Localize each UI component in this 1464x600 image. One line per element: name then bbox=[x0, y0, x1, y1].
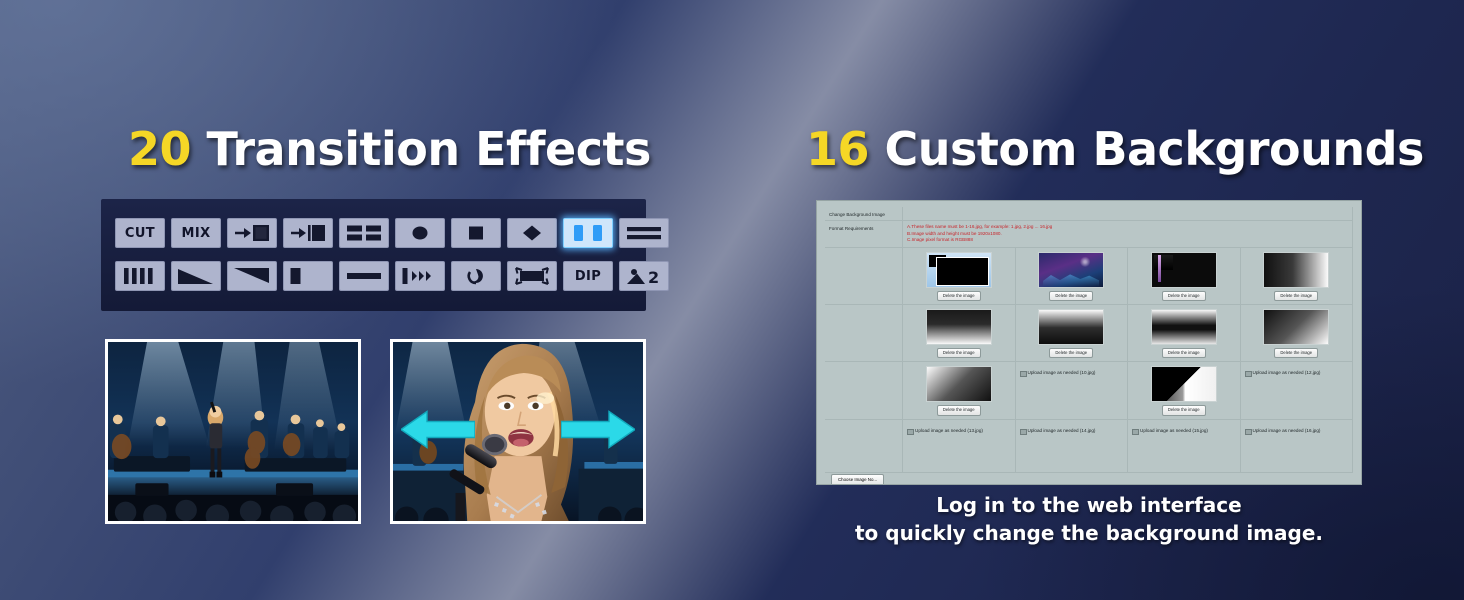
upload-image-note-15: Upload image as needed (15.jpg) bbox=[1130, 424, 1208, 435]
background-slot-row: Upload image as needed (13.jpg)Upload im… bbox=[825, 420, 1353, 473]
svg-text:2: 2 bbox=[648, 268, 660, 286]
transition-button-zoom-frame-corners[interactable] bbox=[507, 261, 557, 291]
background-slot-grid: Delete the imageDelete the imageDelete t… bbox=[825, 248, 1353, 473]
slot-row-spacer bbox=[825, 305, 903, 361]
transition-button-picture-in-picture-2[interactable]: 2 bbox=[619, 261, 669, 291]
transition-button-text-mix[interactable]: MIX bbox=[171, 218, 221, 248]
singer-closeup bbox=[390, 339, 646, 524]
diagonal-wipe-up-icon bbox=[177, 266, 215, 286]
background-slot-10[interactable]: Upload image as needed (10.jpg) bbox=[1016, 362, 1129, 418]
background-thumbnail-11 bbox=[1151, 366, 1217, 402]
format-requirements-list: A.These files name must be 1-16.jpg, for… bbox=[903, 221, 1353, 247]
slot-row-spacer bbox=[825, 420, 903, 472]
row-choose-image: Choose Image No... bbox=[825, 473, 1353, 485]
transition-button-text-cut[interactable]: CUT bbox=[115, 218, 165, 248]
four-blocks-grid-icon bbox=[345, 223, 383, 243]
transition-button-left-edge-block[interactable] bbox=[283, 261, 333, 291]
background-slot-row: Delete the imageDelete the imageDelete t… bbox=[825, 248, 1353, 305]
upload-image-note-10: Upload image as needed (10.jpg) bbox=[1018, 366, 1096, 377]
background-thumbnail-3 bbox=[1151, 252, 1217, 288]
left-edge-block-icon bbox=[289, 266, 327, 286]
transition-button-label: MIX bbox=[182, 226, 211, 241]
background-slot-16[interactable]: Upload image as needed (16.jpg) bbox=[1241, 420, 1354, 472]
background-slot-2[interactable]: Delete the image bbox=[1016, 248, 1129, 304]
transition-button-diamond-iris[interactable] bbox=[507, 218, 557, 248]
background-slot-14[interactable]: Upload image as needed (14.jpg) bbox=[1016, 420, 1129, 472]
upload-image-note-16: Upload image as needed (16.jpg) bbox=[1243, 424, 1321, 435]
square-iris-icon bbox=[457, 223, 495, 243]
transition-button-arrow-push-right-bar[interactable] bbox=[283, 218, 333, 248]
circle-iris-icon bbox=[401, 223, 439, 243]
arrow-push-right-bar-icon bbox=[289, 223, 327, 243]
background-thumbnail-8 bbox=[1263, 309, 1329, 345]
background-slot-row: Delete the imageDelete the imageDelete t… bbox=[825, 305, 1353, 362]
slot-row-spacer bbox=[825, 248, 903, 304]
upload-image-note-12: Upload image as needed (12.jpg) bbox=[1243, 366, 1321, 377]
spiral-swirl-icon bbox=[457, 266, 495, 286]
background-slot-12[interactable]: Upload image as needed (12.jpg) bbox=[1241, 362, 1354, 418]
transition-title-text: Transition Effects bbox=[191, 122, 651, 176]
slide-chevrons-icon bbox=[401, 266, 439, 286]
web-interface-screenshot: Change Background Image Format Requireme… bbox=[816, 200, 1362, 485]
delete-image-button[interactable]: Delete the image bbox=[937, 348, 981, 358]
background-count: 16 bbox=[806, 122, 869, 176]
transition-row-2: DIP2 bbox=[115, 261, 669, 291]
transition-button-square-iris[interactable] bbox=[451, 218, 501, 248]
background-slot-13[interactable]: Upload image as needed (13.jpg) bbox=[903, 420, 1016, 472]
transition-effects-panel: CUTMIX DIP2 bbox=[101, 199, 646, 311]
background-thumbnail-7 bbox=[1151, 309, 1217, 345]
background-slot-3[interactable]: Delete the image bbox=[1128, 248, 1241, 304]
delete-image-button[interactable]: Delete the image bbox=[1274, 348, 1318, 358]
transition-count: 20 bbox=[128, 122, 191, 176]
page-title-transitions: 20 Transition Effects bbox=[128, 122, 651, 176]
background-slot-5[interactable]: Delete the image bbox=[903, 305, 1016, 361]
background-thumbnail-2 bbox=[1038, 252, 1104, 288]
transition-button-diagonal-wipe-down[interactable] bbox=[227, 261, 277, 291]
transition-button-spiral-swirl[interactable] bbox=[451, 261, 501, 291]
background-thumbnail-5 bbox=[926, 309, 992, 345]
delete-image-button[interactable]: Delete the image bbox=[1049, 348, 1093, 358]
stage-wide-shot bbox=[105, 339, 361, 524]
diagonal-wipe-down-icon bbox=[233, 266, 271, 286]
label-format-requirements: Format Requirements bbox=[825, 221, 903, 247]
arrow-push-right-block-icon bbox=[233, 223, 271, 243]
delete-image-button[interactable]: Delete the image bbox=[1162, 405, 1206, 415]
transition-button-vertical-blinds[interactable] bbox=[115, 261, 165, 291]
two-horizontal-bars-icon bbox=[625, 223, 663, 243]
choose-image-number-button[interactable]: Choose Image No... bbox=[831, 474, 884, 485]
delete-image-button[interactable]: Delete the image bbox=[1162, 291, 1206, 301]
transition-button-four-blocks-grid[interactable] bbox=[339, 218, 389, 248]
background-slot-row: Delete the imageUpload image as needed (… bbox=[825, 362, 1353, 419]
arrow-right-icon bbox=[561, 409, 635, 454]
transition-button-text-dip[interactable]: DIP bbox=[563, 261, 613, 291]
two-vertical-bars-highlight-icon bbox=[569, 223, 607, 243]
background-slot-1[interactable]: Delete the image bbox=[903, 248, 1016, 304]
background-slot-7[interactable]: Delete the image bbox=[1128, 305, 1241, 361]
transition-row-1: CUTMIX bbox=[115, 218, 669, 248]
caption-line-2: to quickly change the background image. bbox=[816, 520, 1362, 548]
transition-button-label: CUT bbox=[125, 226, 155, 241]
background-slot-9[interactable]: Delete the image bbox=[903, 362, 1016, 418]
background-thumbnail-9 bbox=[926, 366, 992, 402]
row-format-requirements: Format Requirements A.These files name m… bbox=[825, 221, 1353, 248]
background-slot-6[interactable]: Delete the image bbox=[1016, 305, 1129, 361]
delete-image-button[interactable]: Delete the image bbox=[1162, 348, 1206, 358]
change-background-value bbox=[903, 207, 1353, 220]
transition-button-slide-chevrons[interactable] bbox=[395, 261, 445, 291]
transition-button-diagonal-wipe-up[interactable] bbox=[171, 261, 221, 291]
requirement-line: C.Image pixel format is RGB888 bbox=[907, 237, 1348, 244]
transition-button-arrow-push-right-block[interactable] bbox=[227, 218, 277, 248]
transition-button-center-horizontal-bar[interactable] bbox=[339, 261, 389, 291]
background-title-text: Custom Backgrounds bbox=[869, 122, 1424, 176]
caption-line-1: Log in to the web interface bbox=[816, 492, 1362, 520]
delete-image-button[interactable]: Delete the image bbox=[937, 291, 981, 301]
transition-button-two-horizontal-bars[interactable] bbox=[619, 218, 669, 248]
transition-button-label: DIP bbox=[575, 269, 601, 284]
vertical-blinds-icon bbox=[121, 266, 159, 286]
page-title-backgrounds: 16 Custom Backgrounds bbox=[806, 122, 1424, 176]
zoom-frame-corners-icon bbox=[513, 266, 551, 286]
background-slot-11[interactable]: Delete the image bbox=[1128, 362, 1241, 418]
promo-banner: 20 Transition Effects CUTMIX DIP2 bbox=[0, 0, 1464, 600]
background-thumbnail-4 bbox=[1263, 252, 1329, 288]
picture-in-picture-2-icon: 2 bbox=[625, 266, 663, 286]
arrow-left-icon bbox=[401, 409, 475, 454]
transition-button-circle-iris[interactable] bbox=[395, 218, 445, 248]
delete-image-button[interactable]: Delete the image bbox=[1049, 291, 1093, 301]
row-change-background: Change Background Image bbox=[825, 207, 1353, 221]
stage-photo-art bbox=[108, 342, 358, 521]
background-slot-15[interactable]: Upload image as needed (15.jpg) bbox=[1128, 420, 1241, 472]
delete-image-button[interactable]: Delete the image bbox=[937, 405, 981, 415]
upload-image-note-14: Upload image as needed (14.jpg) bbox=[1018, 424, 1096, 435]
background-thumbnail-6 bbox=[1038, 309, 1104, 345]
delete-image-button[interactable]: Delete the image bbox=[1274, 291, 1318, 301]
center-horizontal-bar-icon bbox=[345, 266, 383, 286]
diamond-iris-icon bbox=[513, 223, 551, 243]
background-thumbnail-1 bbox=[926, 252, 992, 288]
upload-image-note-13: Upload image as needed (13.jpg) bbox=[905, 424, 983, 435]
slot-row-spacer bbox=[825, 362, 903, 418]
web-interface-caption: Log in to the web interface to quickly c… bbox=[816, 492, 1362, 547]
label-change-background: Change Background Image bbox=[825, 207, 903, 220]
background-slot-8[interactable]: Delete the image bbox=[1241, 305, 1354, 361]
transition-button-two-vertical-bars-highlight[interactable] bbox=[563, 218, 613, 248]
background-settings-table: Change Background Image Format Requireme… bbox=[825, 207, 1353, 480]
background-slot-4[interactable]: Delete the image bbox=[1241, 248, 1354, 304]
requirement-line: B.Image width and height must be 1920x10… bbox=[907, 231, 1348, 238]
requirement-line: A.These files name must be 1-16.jpg, for… bbox=[907, 224, 1348, 231]
